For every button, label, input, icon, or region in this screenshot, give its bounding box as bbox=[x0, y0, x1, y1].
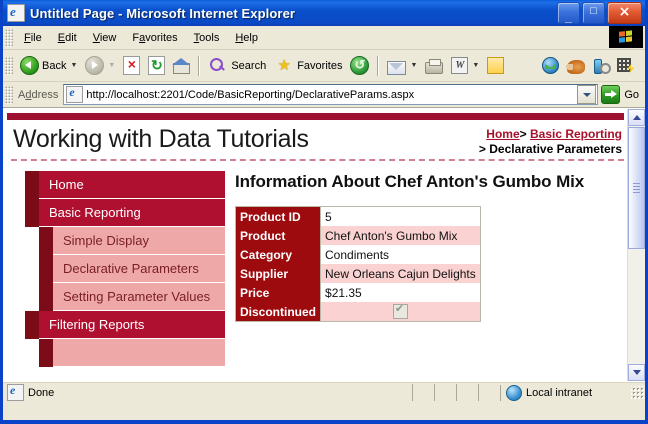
toolbar-drag-grip[interactable] bbox=[5, 57, 13, 75]
forward-button[interactable]: ▼ bbox=[81, 53, 119, 79]
search-label: Search bbox=[231, 60, 266, 72]
favorites-label: Favorites bbox=[297, 60, 342, 72]
toolbar-separator bbox=[198, 56, 200, 76]
notes-button[interactable] bbox=[483, 53, 508, 79]
page-body: Home Basic Reporting Simple Display Decl… bbox=[3, 161, 628, 367]
breadcrumb: Home> Basic Reporting > Declarative Para… bbox=[479, 123, 622, 157]
globe-icon bbox=[506, 385, 522, 401]
go-arrow-icon bbox=[601, 85, 620, 104]
product-detail-table: Product ID 5 Product Chef Anton's Gumbo … bbox=[235, 206, 481, 322]
edit-dropdown-icon[interactable]: ▼ bbox=[472, 62, 479, 69]
back-label: Back bbox=[42, 60, 66, 72]
sidebar-item-basic-reporting[interactable]: Basic Reporting bbox=[25, 199, 225, 227]
sidebar-accent-bar bbox=[25, 311, 39, 339]
table-row: Product Chef Anton's Gumbo Mix bbox=[236, 226, 481, 245]
sidebar-item-simple-display[interactable]: Simple Display bbox=[25, 227, 225, 255]
sidebar-item-label: Home bbox=[39, 171, 225, 199]
sidebar-accent-bar bbox=[25, 171, 39, 199]
mail-dropdown-icon[interactable]: ▼ bbox=[410, 62, 417, 69]
search-icon bbox=[208, 56, 228, 76]
field-label-supplier: Supplier bbox=[236, 264, 321, 283]
page-header: Working with Data Tutorials Home> Basic … bbox=[3, 120, 628, 157]
address-label: Address bbox=[16, 89, 63, 101]
sidebar-accent-bar bbox=[39, 339, 53, 367]
window-title: Untitled Page - Microsoft Internet Explo… bbox=[30, 6, 295, 21]
window-controls: _ □ × bbox=[557, 2, 642, 24]
firefox-icon bbox=[567, 60, 585, 74]
address-input[interactable]: http://localhost:2201/Code/BasicReportin… bbox=[63, 84, 598, 105]
sidebar-accent-bar bbox=[39, 283, 53, 311]
scroll-down-button[interactable] bbox=[628, 364, 645, 381]
home-icon bbox=[173, 58, 190, 73]
menu-file[interactable]: File bbox=[16, 30, 50, 46]
field-label-category: Category bbox=[236, 245, 321, 264]
menu-help[interactable]: Help bbox=[227, 30, 266, 46]
field-value-discontinued bbox=[321, 302, 481, 322]
sidebar-accent-bar bbox=[39, 227, 53, 255]
sidebar-item-label: Filtering Reports bbox=[39, 311, 225, 339]
maximize-button[interactable]: □ bbox=[582, 2, 605, 24]
address-url-text: http://localhost:2201/Code/BasicReportin… bbox=[86, 89, 577, 101]
page-title: Working with Data Tutorials bbox=[13, 123, 479, 155]
breadcrumb-sep-1: > bbox=[520, 127, 527, 141]
back-button[interactable]: Back ▼ bbox=[16, 53, 81, 79]
address-drag-grip[interactable] bbox=[5, 86, 13, 104]
field-value-price: $21.35 bbox=[321, 283, 481, 302]
field-value-product: Chef Anton's Gumbo Mix bbox=[321, 226, 481, 245]
back-dropdown-icon[interactable]: ▼ bbox=[70, 62, 77, 69]
stop-button[interactable] bbox=[119, 53, 144, 79]
close-icon: × bbox=[608, 4, 641, 20]
menu-favorites[interactable]: Favorites bbox=[124, 30, 185, 46]
menu-drag-grip[interactable] bbox=[5, 29, 13, 47]
field-value-category: Condiments bbox=[321, 245, 481, 264]
status-text: Done bbox=[28, 387, 412, 399]
msn-icon bbox=[617, 58, 634, 74]
field-label-product: Product bbox=[236, 226, 321, 245]
mail-button[interactable]: ▼ bbox=[383, 53, 421, 79]
sidebar-item-label: Setting Parameter Values bbox=[53, 283, 225, 311]
sidebar-item-filtering-reports[interactable]: Filtering Reports bbox=[25, 311, 225, 339]
breadcrumb-home-link[interactable]: Home bbox=[486, 127, 519, 141]
minimize-icon: _ bbox=[558, 13, 579, 21]
status-segment bbox=[434, 384, 456, 401]
windows-logo-icon bbox=[609, 26, 643, 48]
status-segment bbox=[456, 384, 478, 401]
search-button[interactable]: Search bbox=[204, 53, 270, 79]
mail-icon bbox=[387, 61, 406, 75]
breadcrumb-section-link[interactable]: Basic Reporting bbox=[530, 127, 622, 141]
navigation-toolbar: Back ▼ ▼ Search Favorites ▼ W ▼ bbox=[3, 50, 645, 82]
page-icon bbox=[66, 86, 83, 103]
sidebar-item-label-clipped bbox=[53, 339, 225, 367]
toolbar-gap bbox=[512, 56, 534, 76]
research-icon bbox=[593, 58, 609, 74]
sidebar-nav: Home Basic Reporting Simple Display Decl… bbox=[3, 171, 225, 367]
field-label-price: Price bbox=[236, 283, 321, 302]
address-dropdown-icon[interactable] bbox=[577, 85, 596, 104]
history-button[interactable] bbox=[346, 53, 373, 79]
sidebar-item-setting-parameter-values[interactable]: Setting Parameter Values bbox=[25, 283, 225, 311]
field-label-discontinued: Discontinued bbox=[236, 302, 321, 322]
refresh-icon bbox=[148, 56, 165, 75]
browser-window: Untitled Page - Microsoft Internet Explo… bbox=[0, 0, 648, 424]
status-segment bbox=[412, 384, 434, 401]
favorites-button[interactable]: Favorites bbox=[270, 53, 346, 79]
messenger-button[interactable] bbox=[538, 53, 563, 79]
scrollbar-thumb[interactable] bbox=[628, 127, 645, 249]
breadcrumb-current: Declarative Parameters bbox=[489, 142, 622, 156]
home-button[interactable] bbox=[169, 53, 194, 79]
refresh-button[interactable] bbox=[144, 53, 169, 79]
menu-edit[interactable]: Edit bbox=[50, 30, 85, 46]
back-icon bbox=[20, 56, 39, 75]
toolbar-separator-2 bbox=[377, 56, 379, 76]
table-row: Price $21.35 bbox=[236, 283, 481, 302]
main-content: Information About Chef Anton's Gumbo Mix… bbox=[225, 171, 628, 367]
resize-grip-icon[interactable] bbox=[631, 386, 645, 400]
menu-bar: File Edit View Favorites Tools Help bbox=[3, 26, 645, 50]
sidebar-item-label: Simple Display bbox=[53, 227, 225, 255]
print-icon bbox=[425, 62, 443, 74]
scrollbar-grip-icon bbox=[633, 183, 640, 193]
menu-tools[interactable]: Tools bbox=[186, 30, 228, 46]
field-label-product-id: Product ID bbox=[236, 207, 321, 227]
go-button[interactable]: Go bbox=[598, 84, 643, 105]
messenger-globe-icon bbox=[542, 57, 559, 74]
minimize-button[interactable]: _ bbox=[557, 2, 580, 24]
zone-label: Local intranet bbox=[526, 387, 592, 399]
forward-icon bbox=[85, 56, 104, 75]
security-zone[interactable]: Local intranet bbox=[500, 385, 628, 401]
edit-button[interactable]: W ▼ bbox=[447, 53, 483, 79]
page-viewport: Working with Data Tutorials Home> Basic … bbox=[3, 108, 645, 381]
notes-icon bbox=[487, 57, 504, 74]
sidebar-item-home[interactable]: Home bbox=[25, 171, 225, 199]
table-row: Discontinued bbox=[236, 302, 481, 322]
sidebar-accent-bar bbox=[25, 199, 39, 227]
web-page-content: Working with Data Tutorials Home> Basic … bbox=[3, 109, 628, 381]
vertical-scrollbar[interactable] bbox=[627, 109, 645, 381]
table-row: Product ID 5 bbox=[236, 207, 481, 227]
table-row: Supplier New Orleans Cajun Delights bbox=[236, 264, 481, 283]
maximize-icon: □ bbox=[583, 5, 604, 18]
scroll-up-button[interactable] bbox=[628, 109, 645, 126]
msn-button[interactable] bbox=[613, 53, 638, 79]
page-top-accent-bar bbox=[7, 113, 624, 120]
sidebar-item-label: Declarative Parameters bbox=[53, 255, 225, 283]
ie-document-icon bbox=[7, 4, 25, 22]
stop-icon bbox=[123, 56, 140, 75]
breadcrumb-sep-2: > bbox=[479, 142, 486, 156]
close-button[interactable]: × bbox=[607, 2, 642, 24]
favorites-star-icon bbox=[274, 56, 294, 76]
status-page-icon bbox=[7, 384, 24, 401]
forward-dropdown-icon[interactable]: ▼ bbox=[108, 62, 115, 69]
status-bar: Done Local intranet bbox=[3, 381, 645, 403]
research-button[interactable] bbox=[589, 53, 613, 79]
sidebar-item-clipped[interactable] bbox=[25, 339, 225, 367]
title-bar: Untitled Page - Microsoft Internet Explo… bbox=[3, 0, 645, 26]
sidebar-item-label: Basic Reporting bbox=[39, 199, 225, 227]
history-icon bbox=[350, 56, 369, 75]
address-bar: Address http://localhost:2201/Code/Basic… bbox=[3, 82, 645, 108]
discontinued-checkbox-icon bbox=[393, 304, 408, 319]
content-heading: Information About Chef Anton's Gumbo Mix bbox=[235, 171, 622, 192]
field-value-product-id: 5 bbox=[321, 207, 481, 227]
print-button[interactable] bbox=[421, 53, 447, 79]
table-row: Category Condiments bbox=[236, 245, 481, 264]
status-segment bbox=[478, 384, 500, 401]
sidebar-item-declarative-parameters[interactable]: Declarative Parameters bbox=[25, 255, 225, 283]
firefox-button[interactable] bbox=[563, 53, 589, 79]
edit-word-icon: W bbox=[451, 57, 468, 74]
sidebar-accent-bar bbox=[39, 255, 53, 283]
field-value-supplier: New Orleans Cajun Delights bbox=[321, 264, 481, 283]
go-label: Go bbox=[624, 89, 639, 101]
menu-view[interactable]: View bbox=[85, 30, 125, 46]
